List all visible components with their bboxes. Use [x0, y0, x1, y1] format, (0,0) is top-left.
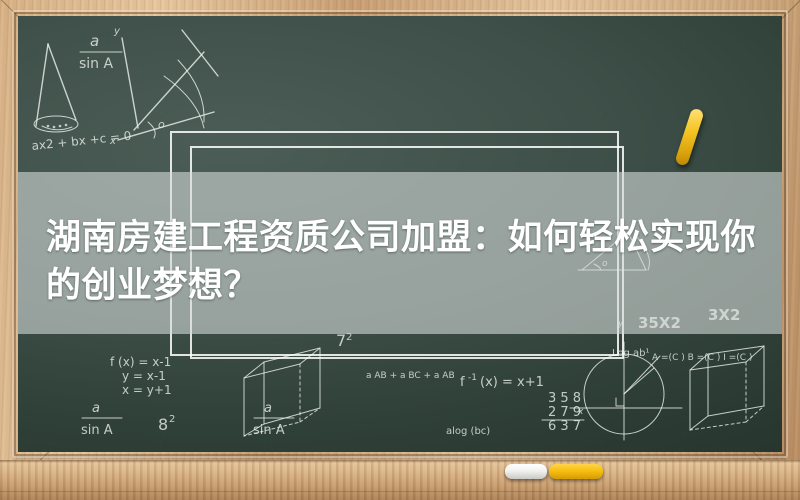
svg-text:6 3 7: 6 3 7 — [548, 419, 581, 434]
chalk-stick-on-board — [674, 107, 704, 166]
svg-text:2: 2 — [346, 332, 352, 343]
chalk-angle-diagram-right: o — [578, 232, 650, 270]
svg-text:a: a — [90, 32, 99, 50]
chalk-vector-sum: a AB + a BC + a AB — [366, 371, 455, 381]
chalk-seven-squared: 7 — [336, 331, 346, 350]
svg-text:a: a — [264, 401, 272, 416]
chalk-circle-axes-diagram: y x — [570, 319, 682, 440]
chalk-drawings-layer: a sin A y x o — [18, 16, 782, 452]
chalk-inverse-function: f -1 (x) = x+1 — [460, 373, 544, 390]
chalk-number-grid: 3 5 8 2 7 9 6 3 7 — [542, 391, 584, 434]
svg-text:f (x) = x-1: f (x) = x-1 — [110, 355, 171, 369]
chalk-35x2: 35X2 — [638, 314, 681, 332]
chalk-eight-squared: 8 2 — [158, 414, 175, 434]
svg-text:o: o — [158, 118, 165, 131]
chalk-function-equations: f (x) = x-1 y = x-1 x = y+1 — [110, 355, 172, 397]
decorative-frame-inner — [190, 146, 624, 359]
svg-text:2 7 9: 2 7 9 — [548, 405, 581, 420]
yellow-chalk-piece — [549, 464, 603, 479]
svg-text:y = x-1: y = x-1 — [122, 369, 166, 383]
svg-text:8: 8 — [158, 415, 168, 434]
svg-text:f: f — [460, 375, 465, 390]
chalk-angle-diagram: y x o — [109, 26, 218, 147]
svg-text:sin A: sin A — [79, 56, 114, 72]
tray-lip — [0, 491, 800, 492]
chalk-formula-sin-a-top: a sin A — [79, 32, 122, 72]
chalk-matrix-row: A =(C ) B =(C ) I =(C ) — [652, 353, 752, 363]
chalk-cube-right — [690, 346, 764, 430]
decorative-frame-outer — [170, 131, 619, 356]
chalk-quadratic-equation: ax2 + bx +c = 0 — [31, 129, 132, 153]
svg-text:x: x — [577, 407, 584, 417]
svg-text:a: a — [92, 401, 100, 416]
svg-text:sin A: sin A — [253, 423, 285, 438]
blackboard-banner: a sin A y x o — [0, 0, 800, 500]
svg-text:ax2 + bx +c = 0: ax2 + bx +c = 0 — [31, 129, 132, 153]
chalk-tray — [0, 460, 800, 500]
svg-text:2: 2 — [169, 414, 175, 425]
chalkboard-surface: a sin A y x o — [18, 16, 782, 452]
chalk-log-ab: Log ab¹ — [612, 348, 650, 359]
chalk-formula-sin-a-bottom-mid: a sin A — [253, 401, 294, 438]
svg-text:3 5 8: 3 5 8 — [548, 391, 581, 406]
chalk-cube-left — [244, 348, 320, 436]
svg-text:sin A: sin A — [81, 423, 113, 438]
svg-text:y: y — [113, 26, 121, 37]
svg-text:x: x — [109, 136, 116, 147]
svg-text:-1: -1 — [468, 373, 477, 383]
chalk-formula-sin-a-bottom-left: a sin A — [81, 401, 122, 438]
chalk-alog-bc: alog (bc) — [446, 426, 490, 437]
svg-text:y: y — [617, 319, 624, 329]
svg-text:x = y+1: x = y+1 — [122, 383, 172, 397]
svg-text:(x) = x+1: (x) = x+1 — [480, 375, 544, 390]
svg-text:o: o — [602, 259, 608, 269]
page-title: 湖南房建工程资质公司加盟：如何轻松实现你的创业梦想？ — [46, 214, 766, 310]
title-overlay-band — [18, 172, 782, 334]
white-chalk-piece — [505, 464, 547, 479]
chalk-3x2: 3X2 — [708, 306, 740, 324]
chalk-cone-diagram — [34, 44, 78, 132]
